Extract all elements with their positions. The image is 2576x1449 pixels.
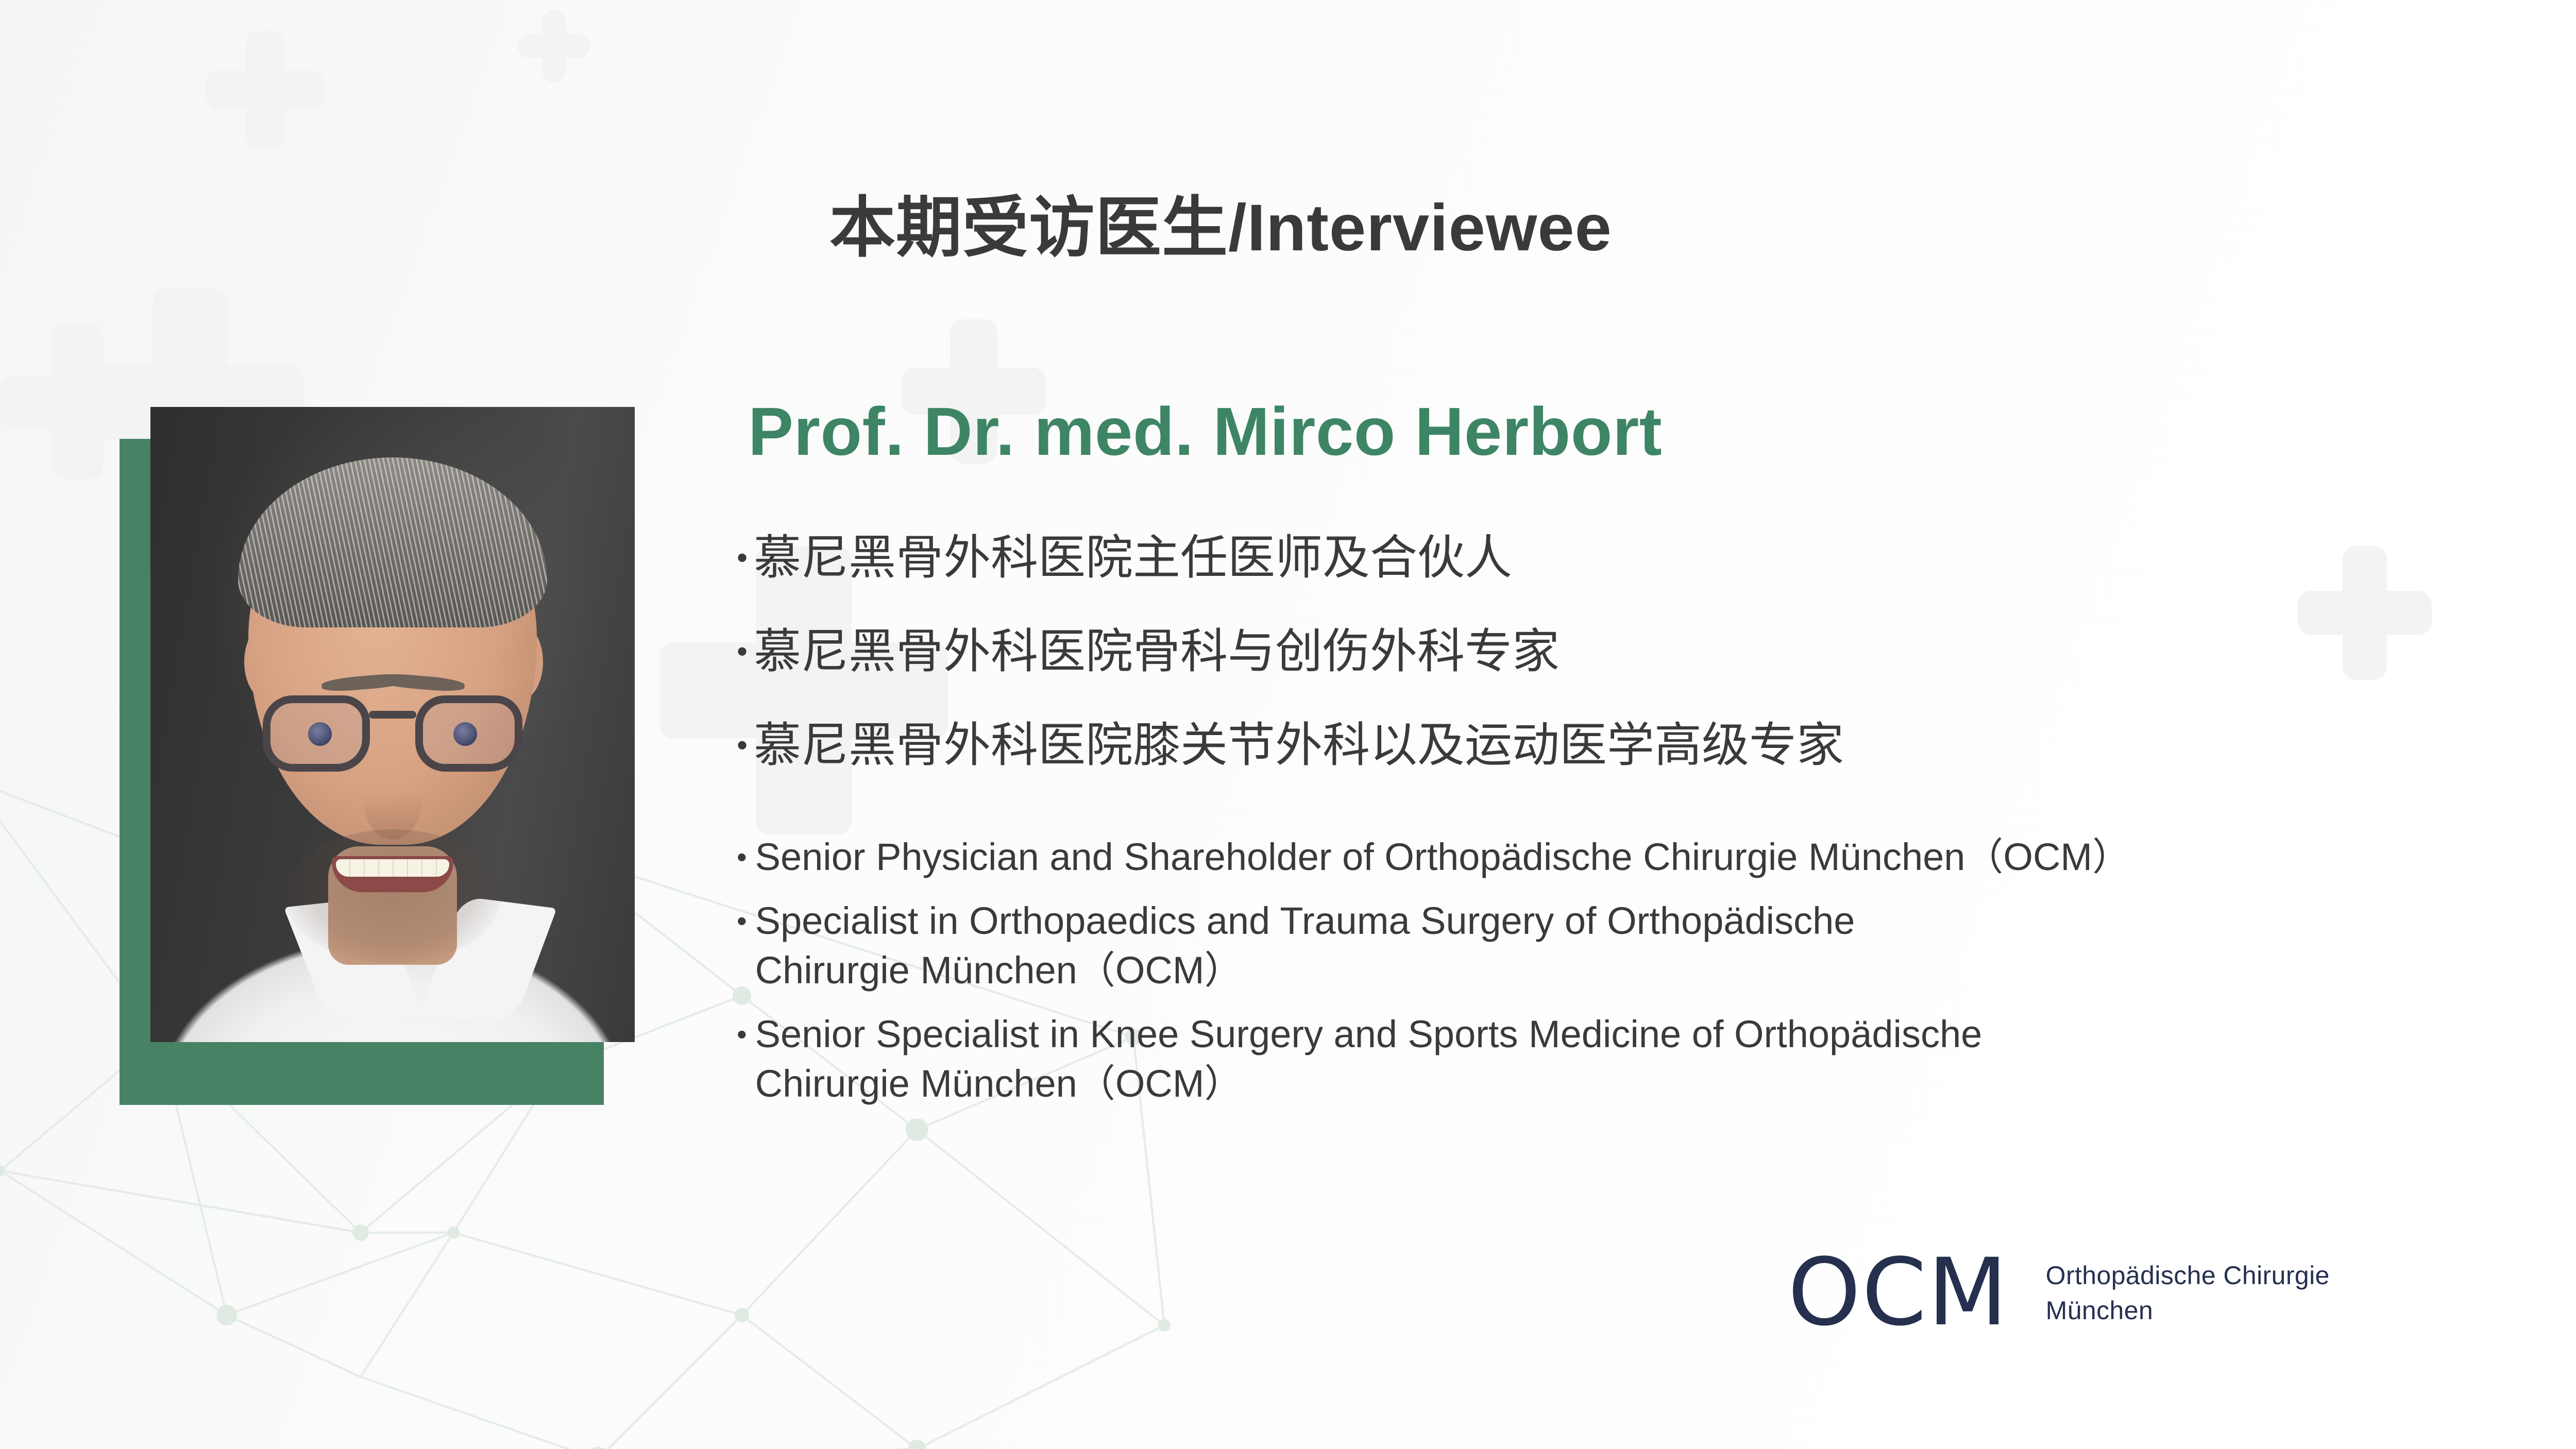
credentials-list-cn: • 慕尼黑骨外科医院主任医师及合伙人 • 慕尼黑骨外科医院骨科与创伤外科专家 •… [737, 526, 2375, 808]
list-item: • Senior Physician and Shareholder of Or… [737, 832, 2385, 882]
credentials-list-en: • Senior Physician and Shareholder of Or… [737, 832, 2385, 1123]
portrait-stubble [284, 829, 501, 963]
bullet-icon: • [737, 896, 747, 946]
credential-text: Senior Physician and Shareholder of Orth… [755, 832, 2130, 882]
slide-canvas: 本期受访医生/Interviewee Prof. Dr. med. Mirco … [0, 0, 2576, 1449]
ocm-logo-subtitle: Orthopädische Chirurgie München [2046, 1258, 2330, 1328]
bullet-icon: • [737, 526, 748, 589]
page-title-separator: / [1228, 191, 1247, 265]
portrait-eye-left [308, 722, 332, 746]
ocm-logo-line1: Orthopädische Chirurgie [2046, 1258, 2330, 1293]
credential-text: 慕尼黑骨外科医院主任医师及合伙人 [754, 526, 1512, 589]
portrait-mouth [332, 856, 453, 892]
portrait-teeth [336, 859, 449, 877]
list-item: • 慕尼黑骨外科医院主任医师及合伙人 [737, 526, 2375, 589]
glasses-bridge [369, 711, 416, 719]
credential-text: Senior Specialist in Knee Surgery and Sp… [755, 1010, 1992, 1109]
portrait-nose [364, 762, 421, 840]
portrait-photo [150, 407, 635, 1042]
list-item: • Specialist in Orthopaedics and Trauma … [737, 896, 2385, 995]
bullet-icon: • [737, 620, 748, 683]
ocm-logo-line2: München [2046, 1293, 2330, 1328]
doctor-name: Prof. Dr. med. Mirco Herbort [748, 393, 1662, 470]
page-title: 本期受访医生/Interviewee [829, 174, 1612, 269]
ocm-wordmark: OCM [1788, 1247, 2009, 1339]
portrait-eye-right [453, 722, 477, 746]
cross-icon [206, 31, 325, 149]
page-title-en: Interviewee [1247, 191, 1612, 265]
portrait-brow-right [377, 672, 465, 693]
list-item: • 慕尼黑骨外科医院膝关节外科以及运动医学高级专家 [737, 714, 2375, 777]
portrait-hair [238, 457, 547, 627]
cross-icon [518, 10, 590, 82]
list-item: • Senior Specialist in Knee Surgery and … [737, 1010, 2385, 1109]
list-item: • 慕尼黑骨外科医院骨科与创伤外科专家 [737, 620, 2375, 683]
portrait-image [150, 407, 635, 1042]
credential-text: Specialist in Orthopaedics and Trauma Su… [755, 896, 1992, 995]
credential-text: 慕尼黑骨外科医院骨科与创伤外科专家 [754, 620, 1560, 683]
bullet-icon: • [737, 832, 747, 882]
credential-text: 慕尼黑骨外科医院膝关节外科以及运动医学高级专家 [754, 714, 1844, 777]
ocm-logo: OCM Orthopädische Chirurgie München [1788, 1247, 2330, 1339]
page-title-cn: 本期受访医生 [829, 191, 1228, 265]
glasses-icon [259, 695, 527, 773]
bullet-icon: • [737, 714, 748, 777]
bullet-icon: • [737, 1010, 747, 1059]
portrait-block [120, 407, 635, 1105]
